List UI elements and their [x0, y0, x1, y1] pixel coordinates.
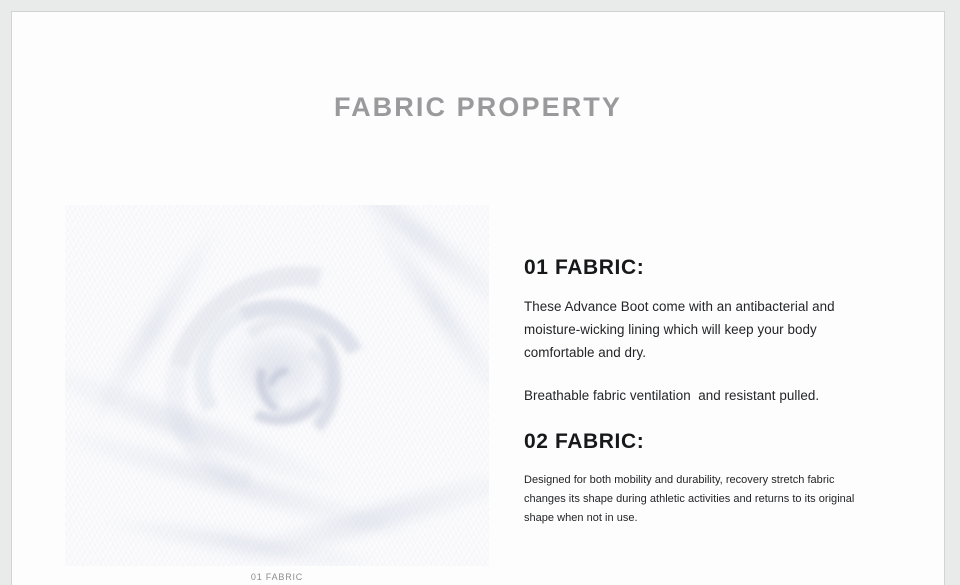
section-heading-01-fabric: 01 FABRIC: [524, 255, 864, 281]
fabric-photo-block [65, 205, 489, 566]
section-02-paragraph-1: Designed for both mobility and durabilit… [524, 471, 864, 528]
product-detail-page: FABRIC PROPERTY 01 FABRIC 01 FA [0, 0, 960, 585]
fabric-description-column: 01 FABRIC: These Advance Boot come with … [524, 255, 864, 528]
section-heading-02-fabric: 02 FABRIC: [524, 429, 864, 455]
page-title: FABRIC PROPERTY [12, 91, 944, 123]
page-sheet: FABRIC PROPERTY 01 FABRIC 01 FA [11, 11, 945, 585]
fabric-photo-caption: 01 FABRIC [65, 572, 489, 582]
white-swirled-fabric-photo [65, 205, 489, 566]
section-01-paragraph-2: Breathable fabric ventilation and resist… [524, 384, 864, 407]
fabric-knit-texture [65, 205, 489, 566]
section-01-paragraph-1: These Advance Boot come with an antibact… [524, 295, 864, 364]
